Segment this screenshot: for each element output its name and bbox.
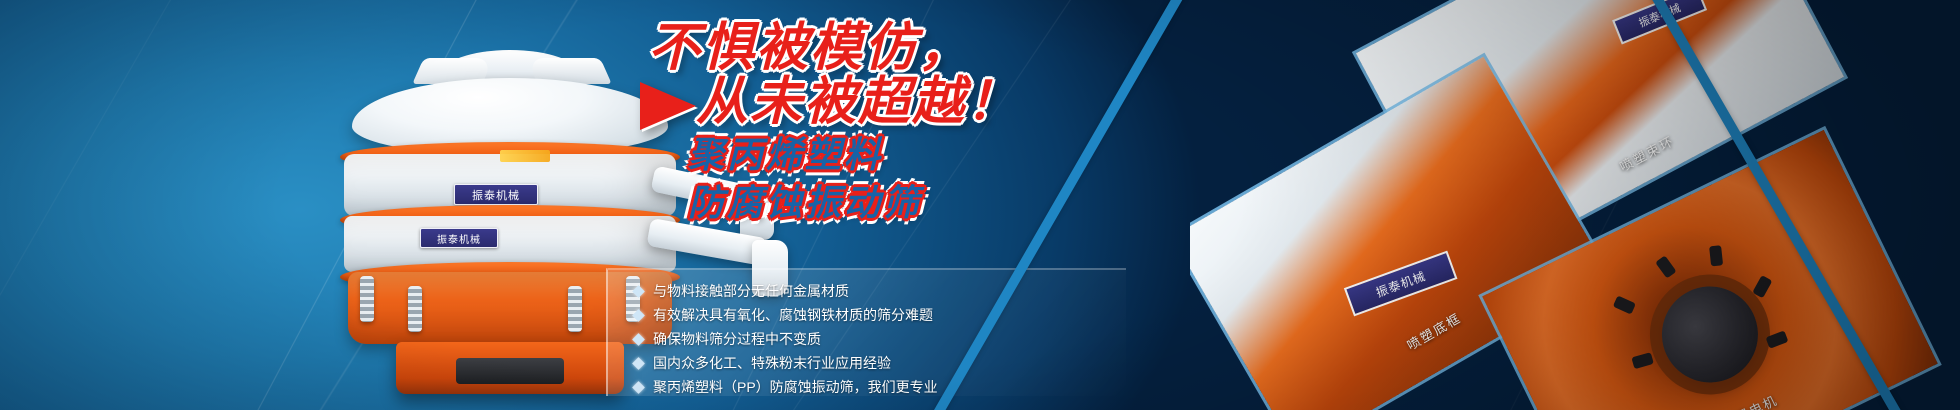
diamond-bullet-icon [632,333,645,346]
subheadline-line-2: 防腐蚀振动筛 [688,174,922,226]
list-item: 聚丙烯塑料（PP）防腐蚀振动筛，我们更专业 [634,376,1126,398]
list-item-label: 国内众多化工、特殊粉末行业应用经验 [653,352,891,374]
motor-bolt [1613,295,1636,314]
motor-bolt [1631,352,1654,369]
diamond-bullet-icon [632,357,645,370]
headline-line-2: 从未被超越！ [696,76,1020,129]
triangle-arrow-icon [640,82,696,130]
motor-bolt [1766,330,1789,348]
tile-brand-plate: 振泰机械 [1344,251,1458,317]
motor-bolt [1752,275,1772,298]
list-item: 国内众多化工、特殊粉末行业应用经验 [634,352,1126,374]
motor-bolt [1655,255,1676,278]
diamond-bullet-icon [632,285,645,298]
motor-bolt [1709,245,1723,266]
product-spring [408,286,422,332]
subheadline-line-1: 聚丙烯塑料 [688,126,883,178]
list-item-label: 确保物料筛分过程中不变质 [653,328,821,350]
list-item: 确保物料筛分过程中不变质 [634,328,1126,350]
light-ray [0,0,252,410]
list-item-label: 与物料接触部分无任何金属材质 [653,280,849,302]
product-brand-plate-upper: 振泰机械 [454,184,538,205]
feature-list: 与物料接触部分无任何金属材质 有效解决具有氧化、腐蚀钢铁材质的筛分难题 确保物料… [606,268,1126,396]
detail-photo-collage: 振泰机械 喷塑束环 振泰机械 喷塑底框 防爆电机 [1190,0,1960,410]
list-item: 与物料接触部分无任何金属材质 [634,280,1126,302]
product-motor-base [396,342,624,394]
product-label-sticker [500,150,550,162]
diamond-bullet-icon [632,381,645,394]
list-item-label: 聚丙烯塑料（PP）防腐蚀振动筛，我们更专业 [653,376,938,398]
list-item-label: 有效解决具有氧化、腐蚀钢铁材质的筛分难题 [653,304,933,326]
product-spring [568,286,582,332]
product-spring [360,276,374,322]
list-item: 有效解决具有氧化、腐蚀钢铁材质的筛分难题 [634,304,1126,326]
headline-line-1: 不惧被模仿， [648,22,972,75]
product-brand-plate-lower: 振泰机械 [420,228,498,248]
promo-banner: 振泰机械 振泰机械 不惧被模仿， 从未被超越！ 聚丙烯塑料 防腐蚀振动筛 与物料… [0,0,1960,410]
diamond-bullet-icon [632,309,645,322]
